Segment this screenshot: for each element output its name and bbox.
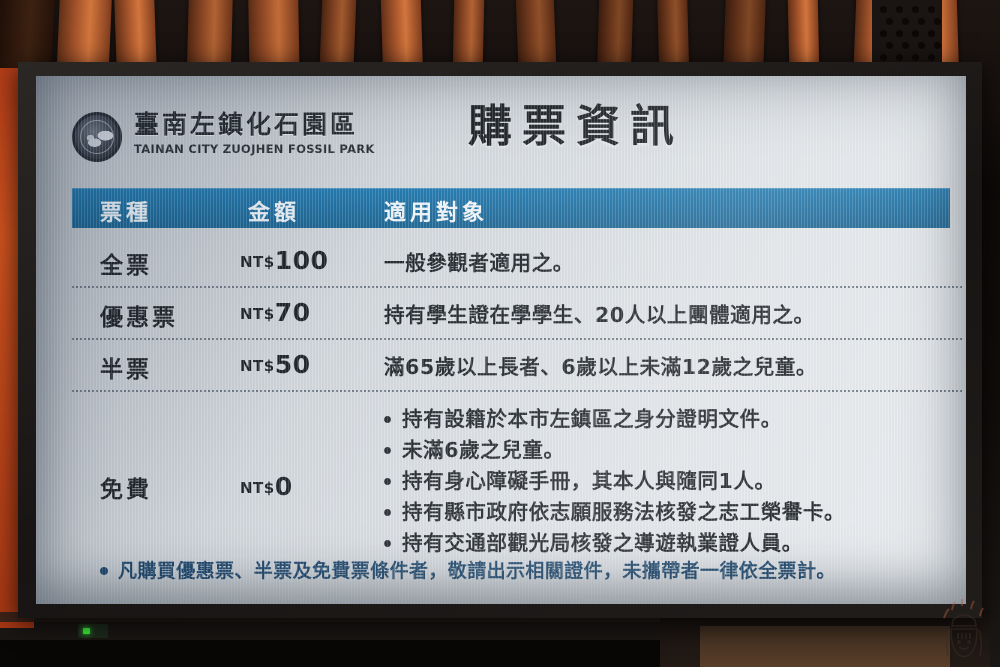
- price-value: 70: [275, 298, 311, 327]
- row-divider: [72, 390, 962, 392]
- price-value: 0: [275, 472, 293, 501]
- currency-label: NT$: [240, 479, 275, 497]
- ticket-price: NT$100: [240, 246, 328, 275]
- photo-scene: 臺南左鎮化石園區 TAINAN CITY ZUOJHEN FOSSIL PARK…: [0, 0, 1000, 667]
- free-condition-item: 持有身心障礙手冊，其本人與隨同1人。: [384, 466, 845, 497]
- currency-label: NT$: [240, 305, 275, 323]
- ticket-audience: 滿65歲以上長者、6歲以上未滿12歲之兒童。: [384, 350, 817, 380]
- row-divider: [72, 338, 962, 340]
- free-condition-item: 未滿6歲之兒童。: [384, 435, 845, 466]
- column-header-audience: 適用對象: [384, 195, 488, 227]
- ticket-price: NT$0: [240, 472, 293, 501]
- currency-label: NT$: [240, 253, 275, 271]
- ticket-type: 免費: [100, 470, 152, 504]
- free-conditions-list: 持有設籍於本市左鎮區之身分證明文件。未滿6歲之兒童。持有身心障礙手冊，其本人與隨…: [384, 404, 845, 559]
- ticket-price: NT$50: [240, 350, 311, 379]
- green-indicator-light: [78, 624, 108, 638]
- ticket-type: 優惠票: [100, 298, 178, 332]
- cartoon-character-watermark-icon: [936, 596, 992, 662]
- free-condition-item: 持有設籍於本市左鎮區之身分證明文件。: [384, 404, 845, 435]
- ticket-price: NT$70: [240, 298, 311, 327]
- ticket-type: 全票: [100, 246, 152, 280]
- door-panel: [700, 626, 950, 667]
- floor-shadow: [0, 640, 660, 667]
- ticket-audience: 一般參觀者適用之。: [384, 246, 574, 276]
- column-header-amount: 金額: [248, 195, 300, 227]
- row-divider: [72, 286, 962, 288]
- free-condition-item: 持有交通部觀光局核發之導遊執業證人員。: [384, 528, 845, 559]
- ticket-audience: 持有學生證在學學生、20人以上團體適用之。: [384, 298, 815, 328]
- free-condition-item: 持有縣市政府依志願服務法核發之志工榮譽卡。: [384, 497, 845, 528]
- price-value: 100: [275, 246, 329, 275]
- table-header-row: 票種 金額 適用對象: [72, 188, 950, 228]
- brand-name-chinese: 臺南左鎮化石園區: [134, 110, 375, 140]
- column-header-type: 票種: [100, 195, 152, 227]
- page-title: 購票資訊: [416, 102, 736, 152]
- brand-text: 臺南左鎮化石園區 TAINAN CITY ZUOJHEN FOSSIL PARK: [134, 110, 375, 157]
- currency-label: NT$: [240, 357, 275, 375]
- perforated-panel: [872, 0, 942, 62]
- price-value: 50: [275, 350, 311, 379]
- fossil-park-emblem-icon: [72, 112, 122, 162]
- brand-name-english: TAINAN CITY ZUOJHEN FOSSIL PARK: [134, 142, 375, 157]
- ticket-information-sign: 臺南左鎮化石園區 TAINAN CITY ZUOJHEN FOSSIL PARK…: [36, 76, 966, 604]
- footer-note: 凡購買優惠票、半票及免費票條件者，敬請出示相關證件，未攜帶者一律依全票計。: [100, 558, 958, 584]
- ticket-type: 半票: [100, 350, 152, 384]
